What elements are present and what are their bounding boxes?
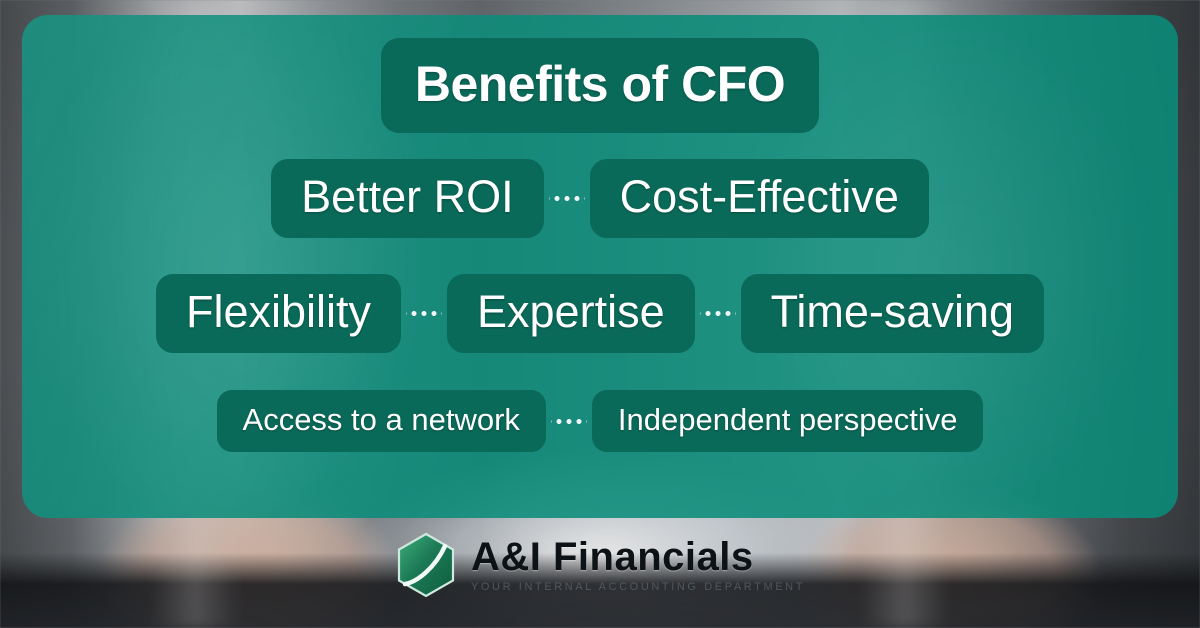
hexagon-swoosh-icon: [395, 532, 457, 598]
brand-text-block: A&I Financials YOUR INTERNAL ACCOUNTING …: [471, 537, 805, 593]
benefits-row-3: Access to a network Independent perspect…: [217, 390, 984, 452]
dotted-connector-icon: [551, 418, 587, 425]
benefits-row-2: Flexibility Expertise Time-saving: [156, 274, 1044, 353]
benefit-pill-independent-perspective[interactable]: Independent perspective: [592, 390, 984, 452]
page-title: Benefits of CFO: [381, 38, 819, 133]
brand-name: A&I Financials: [471, 537, 754, 577]
brand-logo[interactable]: A&I Financials YOUR INTERNAL ACCOUNTING …: [0, 532, 1200, 598]
benefit-pill-better-roi[interactable]: Better ROI: [271, 159, 544, 238]
dotted-connector-icon: [549, 195, 585, 202]
benefit-pill-time-saving[interactable]: Time-saving: [741, 274, 1044, 353]
poster-canvas: Benefits of CFO Better ROI Cost-Effectiv…: [0, 0, 1200, 628]
benefit-pill-flexibility[interactable]: Flexibility: [156, 274, 401, 353]
dotted-connector-icon: [406, 310, 442, 317]
dotted-connector-icon: [700, 310, 736, 317]
poster-content: Benefits of CFO Better ROI Cost-Effectiv…: [22, 15, 1178, 518]
benefit-pill-cost-effective[interactable]: Cost-Effective: [590, 159, 929, 238]
benefit-pill-access-to-a-network[interactable]: Access to a network: [217, 390, 546, 452]
benefit-pill-expertise[interactable]: Expertise: [447, 274, 695, 353]
benefits-row-1: Better ROI Cost-Effective: [271, 159, 929, 238]
brand-tagline: YOUR INTERNAL ACCOUNTING DEPARTMENT: [471, 582, 805, 593]
title-row: Benefits of CFO: [381, 38, 819, 133]
